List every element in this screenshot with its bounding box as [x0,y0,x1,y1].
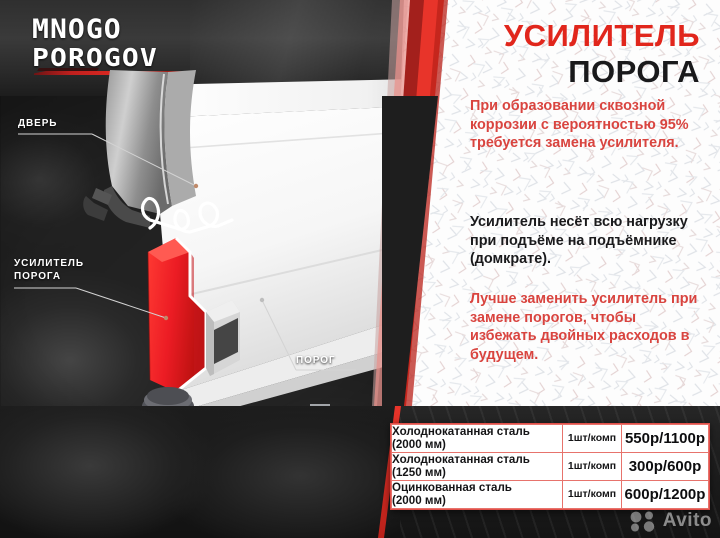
price-table: Холоднокатанная сталь (2000 мм) 1шт/комп… [390,423,710,510]
cell-product: Оцинкованная сталь (2000 мм) [392,480,563,508]
cell-price: 550р/1100р [622,425,709,453]
label-door: ДВЕРЬ [18,118,57,131]
cell-quantity: 1шт/комп [563,480,622,508]
table-row: Холоднокатанная сталь (2000 мм) 1шт/комп… [392,425,709,453]
cell-quantity: 1шт/комп [563,425,622,453]
label-sill: ПОРОГ [296,355,335,368]
bottom-left-photo-continuation [0,406,400,538]
table-row: Холоднокатанная сталь (1250 мм) 1шт/комп… [392,452,709,480]
product-name-line2: (2000 мм) [392,438,446,451]
cell-product: Холоднокатанная сталь (1250 мм) [392,452,563,480]
product-name-line2: (2000 мм) [392,494,446,507]
product-name-line1: Оцинкованная сталь [392,481,512,494]
product-name-line1: Холоднокатанная сталь [392,453,530,466]
poster-canvas: MNOGO POROGOV [0,0,720,538]
product-name-line2: (1250 мм) [392,466,446,479]
paragraph-advice: Лучше заменить усилитель при замене поро… [470,290,702,365]
page-title-line1: УСИЛИТЕЛЬ [504,18,700,54]
page-title-line2: ПОРОГА [568,54,700,90]
panel-edge-wedge [382,0,460,406]
paragraph-load: Усилитель несёт всю нагрузку при подъёме… [470,213,702,269]
product-name-line1: Холоднокатанная сталь [392,425,530,438]
cell-price: 600р/1200р [622,480,709,508]
table-row: Оцинкованная сталь (2000 мм) 1шт/комп 60… [392,480,709,508]
label-reinforcement: УСИЛИТЕЛЬПОРОГА [14,258,84,283]
paragraph-corrosion: При образовании сквозной коррозии с веро… [470,97,702,153]
cell-price: 300р/600р [622,452,709,480]
cell-product: Холоднокатанная сталь (2000 мм) [392,425,563,453]
cell-quantity: 1шт/комп [563,452,622,480]
